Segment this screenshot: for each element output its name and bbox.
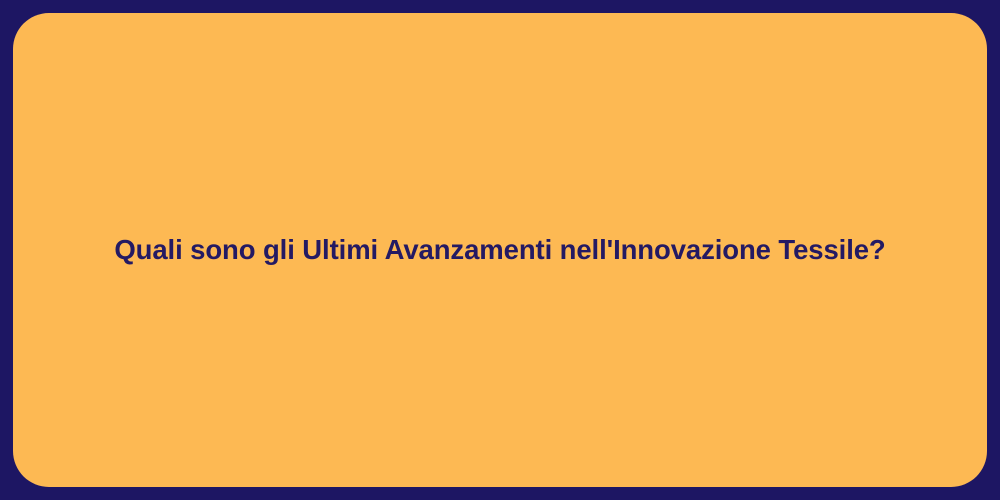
page-title: Quali sono gli Ultimi Avanzamenti nell'I… xyxy=(13,232,987,267)
banner-card: Quali sono gli Ultimi Avanzamenti nell'I… xyxy=(0,0,1000,500)
banner-content-panel: Quali sono gli Ultimi Avanzamenti nell'I… xyxy=(13,13,987,487)
